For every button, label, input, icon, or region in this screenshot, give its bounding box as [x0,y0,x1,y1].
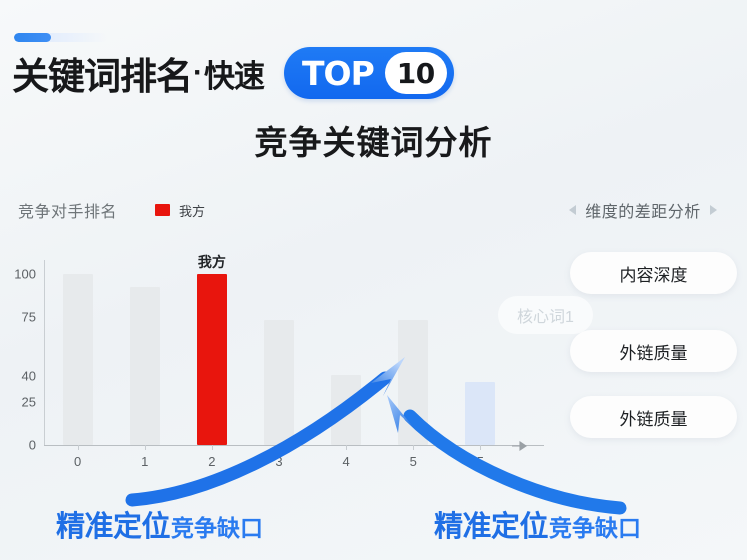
bar[interactable] [130,287,160,445]
progress-bar-fill [14,33,51,42]
x-axis-tick: 1 [141,454,148,469]
chart-legend: 竞争对手排名 我方 [18,198,205,222]
dimension-card[interactable]: 外链质量 [570,330,737,372]
dimension-panel-header: 维度的差距分析 [548,198,738,222]
x-axis-tick: 4 [343,454,350,469]
legend-label-ours: 我方 [179,201,205,220]
legend-item-ours: 我方 [155,201,205,220]
x-axis-tick-mark [78,445,79,450]
chevron-right-icon[interactable] [710,205,717,215]
page-title-sub: 快速 [204,51,264,96]
chevron-left-icon[interactable] [569,205,576,215]
top-badge-number: 10 [397,57,435,90]
callout-right: 精准定位 竞争缺口 [434,503,641,545]
y-axis-tick: 40 [0,369,36,384]
x-axis-tick-mark [145,445,146,450]
bar[interactable] [264,320,294,445]
x-axis-tick: 3 [275,454,282,469]
x-axis-tick: 2 [208,454,215,469]
y-axis-tick: 0 [0,438,36,453]
x-axis-arrow-icon [512,440,532,452]
top-rank-badge: TOP 10 [284,47,454,99]
page-subtitle: 竞争关键词分析 [0,116,747,164]
x-axis-line [44,445,544,446]
competitor-rank-bar-chart: 1007540250 0123455 我方 [0,250,540,465]
page-title-separator: · [192,56,204,90]
bar[interactable] [331,375,361,445]
y-axis-tick: 75 [0,309,36,324]
dimension-panel-title: 维度的差距分析 [585,198,701,222]
y-axis-tick: 25 [0,395,36,410]
bar[interactable] [465,382,495,445]
bar[interactable] [398,320,428,445]
x-axis-tick-mark [212,445,213,450]
bar-value-label: 我方 [198,252,226,272]
x-axis-tick: 5 [477,454,484,469]
dimension-card[interactable]: 外链质量 [570,396,737,438]
callout-right-primary: 精准定位 [434,503,548,545]
slide-canvas: 关键词排名 · 快速 TOP 10 竞争关键词分析 竞争对手排名 我方 维度的差… [0,0,747,560]
dimension-card[interactable]: 内容深度 [570,252,737,294]
x-axis-tick-mark [480,445,481,450]
callout-right-secondary: 竞争缺口 [549,509,641,543]
bar[interactable] [63,274,93,445]
progress-bar [14,33,107,42]
x-axis-tick: 0 [74,454,81,469]
chart-axis-title: 竞争对手排名 [18,198,117,222]
x-axis-tick-mark [413,445,414,450]
x-axis-tick-mark [279,445,280,450]
legend-swatch-icon [155,204,170,216]
y-axis-tick: 100 [0,266,36,281]
x-axis-tick-mark [346,445,347,450]
callout-left-secondary: 竞争缺口 [171,509,263,543]
bar-highlighted[interactable] [197,274,227,445]
page-title: 关键词排名 · 快速 [12,48,264,98]
y-axis-line [44,260,45,445]
page-title-main: 关键词排名 [12,46,192,100]
x-axis-tick: 5 [410,454,417,469]
callout-left: 精准定位 竞争缺口 [56,503,263,545]
top-badge-number-pill: 10 [385,52,447,94]
callout-left-primary: 精准定位 [56,503,170,545]
top-badge-word: TOP [302,54,374,93]
